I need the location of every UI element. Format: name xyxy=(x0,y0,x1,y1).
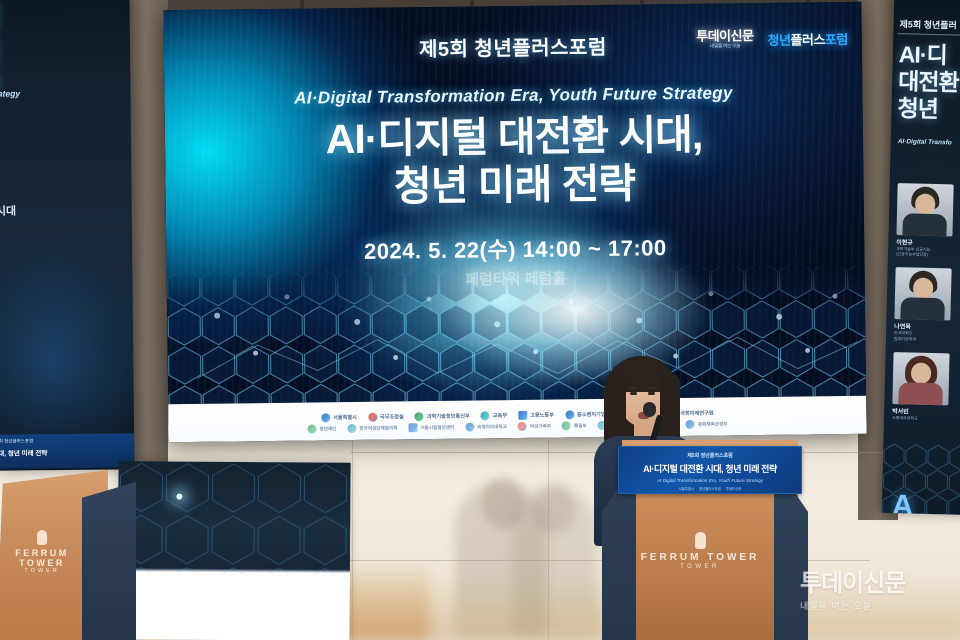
speaker-shadow-secondary-head xyxy=(534,484,574,534)
sponsor-seal-icon xyxy=(347,424,356,433)
sponsor-seal-icon xyxy=(518,422,527,431)
sponsor-logo: 국무조정실 xyxy=(368,412,404,421)
speaker-role: 숙명여자대학교 xyxy=(892,415,960,422)
podium-left-venue-mark: FERRUM TOWER TOWER xyxy=(0,530,90,574)
speaker-role-line: 컴퓨터공학과 xyxy=(894,336,960,343)
speaker-portrait xyxy=(892,352,949,405)
program-item: 을 바꾸다 xyxy=(0,326,134,342)
program-item-heading: 년이 이끄는 새로운 시대 xyxy=(0,204,134,220)
forum-logo: 청년플러스포럼 xyxy=(767,28,847,48)
forum-logo-highlight: 플러스 xyxy=(790,32,825,47)
sponsor-logo: 한국여성단체협의회 xyxy=(347,423,397,433)
sponsor-logo: 고용노동부 xyxy=(518,411,554,420)
rollup-banner-left xyxy=(117,461,350,640)
speaker-card: 박서빈숙명여자대학교 xyxy=(892,352,960,422)
sponsor-name: 교육부 xyxy=(493,412,507,419)
sponsor-name: 서울특별시 xyxy=(333,414,357,421)
right-banner-bottom-logo: A xyxy=(891,489,913,515)
photo-scene: 제5회 청년플러스포럼 AI·Digital Transformation Er… xyxy=(0,0,960,640)
speaker-banner-right: 제5회 청년플러 AI·디 대전환 청년 AI·Digital Transfo … xyxy=(882,0,960,515)
speaker-eye-right xyxy=(648,392,655,395)
screen-title-line2: 청년 미래 전략 xyxy=(165,157,864,213)
screen-logo-row: 투데이신문 내일을 여는 오늘 청년플러스포럼 xyxy=(696,28,848,50)
sponsor-seal-icon xyxy=(565,410,574,419)
sponsor-seal-icon xyxy=(415,412,424,421)
sponsor-seal-icon xyxy=(307,424,316,433)
podium-sign-title: AI·디지털 대전환 시대, 청년 미래 전략 xyxy=(619,459,801,475)
right-banner-eyebrow: 제5회 청년플러 xyxy=(899,17,956,31)
rollup-hex-pattern xyxy=(118,461,351,575)
sponsor-seal-icon xyxy=(562,421,571,430)
portrait-face xyxy=(915,194,936,215)
sponsor-name: 청년재단 xyxy=(319,426,336,432)
portrait-body xyxy=(898,382,943,405)
projection-screen: 제5회 청년플러스포럼 AI·Digital Transformation Er… xyxy=(163,2,866,442)
watermark-name: 투데이신문 xyxy=(800,572,950,596)
program-item-heading: 을 바꾸다 xyxy=(0,326,134,342)
sponsor-logo: 여성가족부 xyxy=(518,422,551,431)
screen-title-line1: AI·디지털 대전환 시대, xyxy=(165,110,864,166)
sponsor-logo: 청년재단 xyxy=(307,424,336,433)
sponsor-logo: 통일부 xyxy=(562,421,587,430)
sponsor-logo: 교육부 xyxy=(481,411,507,420)
speaker-role: 단국대학교컴퓨터공학과 xyxy=(894,330,960,342)
speaker-hair-left xyxy=(606,374,626,444)
left-banner-footer-title: 시대, 청년 미래 전략 xyxy=(0,443,134,458)
right-banner-title: AI·디 대전환 청년 xyxy=(897,41,959,124)
left-banner-footer: 제5회 청년플러스포럼 시대, 청년 미래 전략 xyxy=(0,433,134,469)
speaker-role-line: (인공지능사업단장) xyxy=(896,251,960,258)
podium-sign-logos: 서울특별시청년플러스포럼투데이신문 xyxy=(619,483,801,491)
podium-venue-mark: FERRUM TOWER TOWER xyxy=(602,532,798,570)
right-banner-rule xyxy=(897,33,960,36)
rollup-light-spark xyxy=(176,494,182,500)
press-logo-name: 투데이신문 xyxy=(696,29,753,43)
speaker-card: 이현규과학기술부 인공지능(인공지능사업단장) xyxy=(896,183,960,258)
sponsor-seal-icon xyxy=(481,411,490,420)
sponsor-seal-icon xyxy=(518,411,527,420)
forum-logo-pre: 청년 xyxy=(767,32,790,47)
speaker-brow-left xyxy=(629,387,638,389)
program-item: 년이 이끄는 새로운 시대PM 겸 인공지능사업단장) xyxy=(0,204,134,234)
program-item-sub: 여대 학생) xyxy=(0,179,134,193)
program-item: 꿈꾸는 미래여대 학생) xyxy=(0,163,134,193)
portrait-face xyxy=(913,278,934,299)
left-banner-program-list: 꿈꾸는 미래여대 학생)년이 이끄는 새로운 시대PM 겸 인공지능사업단장)신… xyxy=(0,163,134,355)
speaker-eye-left xyxy=(630,392,637,395)
ferrum-submark: TOWER xyxy=(0,568,90,574)
ferrum-wordmark: FERRUM TOWER xyxy=(0,548,90,568)
podium-left: FERRUM TOWER TOWER xyxy=(0,470,136,640)
program-banner-left: ·디지털 환 시대 래 전략 ra, Youth Future Strategy… xyxy=(0,0,134,471)
sponsor-logo: 과학기술정보통신부 xyxy=(415,412,470,422)
microphone-icon xyxy=(643,402,656,417)
sponsor-name: 국무조정실 xyxy=(380,413,404,420)
press-logo: 투데이신문 내일을 여는 오늘 xyxy=(696,29,754,50)
ferrum-submark: TOWER xyxy=(602,564,798,570)
right-banner-title-line3: 청년 xyxy=(897,95,958,124)
podium-sign-eyebrow: 제5회 청년플러스포럼 xyxy=(619,447,801,459)
program-item-sub: 재개발분야 전문강사) xyxy=(0,260,134,274)
podium-sign-logo: 서울특별시 xyxy=(678,486,694,491)
speaker-role-line: 숙명여자대학교 xyxy=(892,415,960,422)
program-item: 신 성공 사례들재개발분야 전문강사) xyxy=(0,245,134,275)
ferrum-icon xyxy=(695,532,706,549)
podium-sign-logo: 투데이신문 xyxy=(726,486,742,491)
sponsor-name: 과학기술정보통신부 xyxy=(427,413,470,421)
sponsor-name: 한국여성단체협의회 xyxy=(359,425,397,431)
portrait-body xyxy=(902,213,947,236)
program-item-heading: 꿈꾸는 미래 xyxy=(0,163,134,179)
sponsor-seal-icon xyxy=(465,423,474,432)
speaker-portrait xyxy=(894,267,951,320)
program-item-heading: 성 방안 xyxy=(0,285,134,301)
left-banner-title-line2: 환 시대 xyxy=(0,33,128,71)
ferrum-wordmark: FERRUM TOWER xyxy=(602,552,798,563)
sponsor-name: 숙명여자대학교 xyxy=(477,424,507,430)
program-item: 성 방안교수) xyxy=(0,285,134,315)
right-banner-title-line2: 대전환 xyxy=(898,68,959,97)
sponsor-logo: 서울특별시 xyxy=(321,413,357,422)
speaker-role: 과학기술부 인공지능(인공지능사업단장) xyxy=(896,246,960,258)
right-banner-speaker-list: 이현규과학기술부 인공지능(인공지능사업단장)나연묵단국대학교컴퓨터공학과박서빈… xyxy=(892,183,960,433)
right-banner-english: AI·Digital Transfo xyxy=(898,138,952,146)
ferrum-icon xyxy=(37,530,47,545)
portrait-body xyxy=(900,298,945,321)
program-item-sub: PM 겸 인공지능사업단장) xyxy=(0,220,134,234)
portrait-face xyxy=(911,362,932,383)
program-item-heading: 신 성공 사례들 xyxy=(0,245,134,261)
podium-sign: 제5회 청년플러스포럼 AI·디지털 대전환 시대, 청년 미래 전략 AI·D… xyxy=(618,446,802,494)
sponsor-seal-icon xyxy=(408,423,417,432)
speaker-portrait xyxy=(896,183,953,236)
podium-sign-logo: 청년플러스포럼 xyxy=(699,486,721,491)
speaker-brow-right xyxy=(647,387,656,389)
press-logo-tagline: 내일을 여는 오늘 xyxy=(710,44,741,49)
sponsor-logo: 서울시립청년센터 xyxy=(408,423,454,433)
speaker-card: 나연묵단국대학교컴퓨터공학과 xyxy=(894,267,960,342)
sponsor-name: 서울시립청년센터 xyxy=(420,424,454,430)
watermark-tagline: 내일을 여는 오늘 xyxy=(800,599,950,612)
sponsor-seal-icon xyxy=(321,413,330,422)
press-watermark: 투데이신문 내일을 여는 오늘 xyxy=(800,572,950,612)
podium-left-side xyxy=(82,482,136,640)
sponsor-name: 고용노동부 xyxy=(530,412,554,419)
podium-main: 제5회 청년플러스포럼 AI·디지털 대전환 시대, 청년 미래 전략 AI·D… xyxy=(602,440,808,640)
forum-logo-post: 포럼 xyxy=(825,31,848,46)
sponsor-seal-icon xyxy=(368,413,377,422)
sponsor-name: 통일부 xyxy=(574,423,587,429)
sponsor-name: 여성가족부 xyxy=(530,423,551,429)
program-item-sub xyxy=(0,342,134,344)
screen-title: AI·디지털 대전환 시대, 청년 미래 전략 xyxy=(165,110,864,214)
wall-column-left xyxy=(128,0,168,470)
podium-sign-english: AI·Digital Transformation Era, Youth Fut… xyxy=(619,475,801,483)
left-banner-title-line1: ·디지털 xyxy=(0,0,128,36)
right-banner-title-line1: AI·디 xyxy=(899,41,960,70)
sponsor-logo: 숙명여자대학교 xyxy=(465,422,507,432)
program-item-sub: 교수) xyxy=(0,301,134,315)
